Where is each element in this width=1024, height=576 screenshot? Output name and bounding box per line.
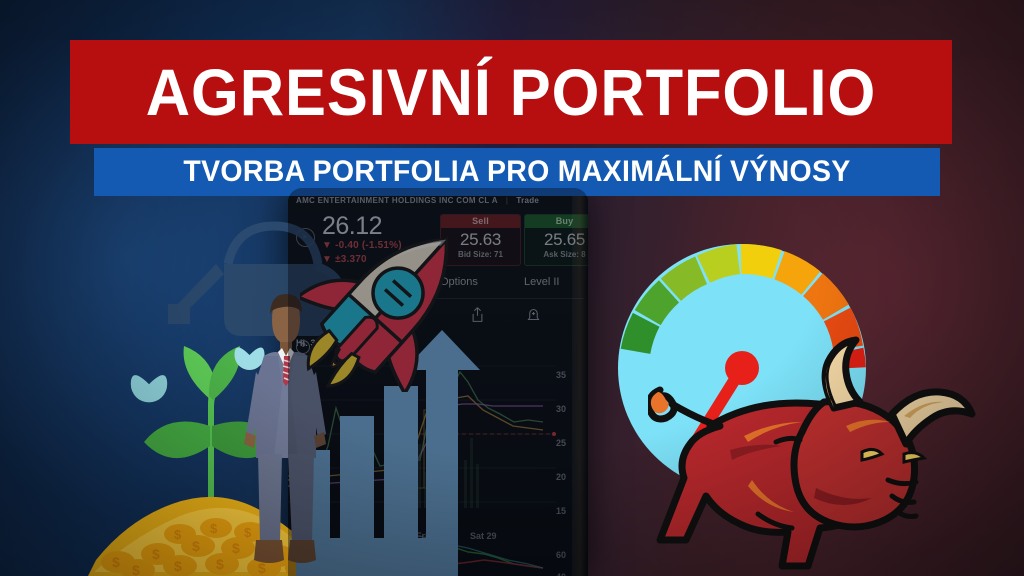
- subtitle-banner: TVORBA PORTFOLIA PRO MAXIMÁLNÍ VÝNOSY: [94, 148, 940, 196]
- page-title: AGRESIVNÍ PORTFOLIO: [101, 40, 921, 144]
- page-subtitle: TVORBA PORTFOLIA PRO MAXIMÁLNÍ VÝNOSY: [115, 148, 919, 196]
- thumbnail-canvas: AMC ENTERTAINMENT HOLDINGS INC COM CL A …: [0, 0, 1024, 576]
- title-banner: AGRESIVNÍ PORTFOLIO: [70, 40, 952, 144]
